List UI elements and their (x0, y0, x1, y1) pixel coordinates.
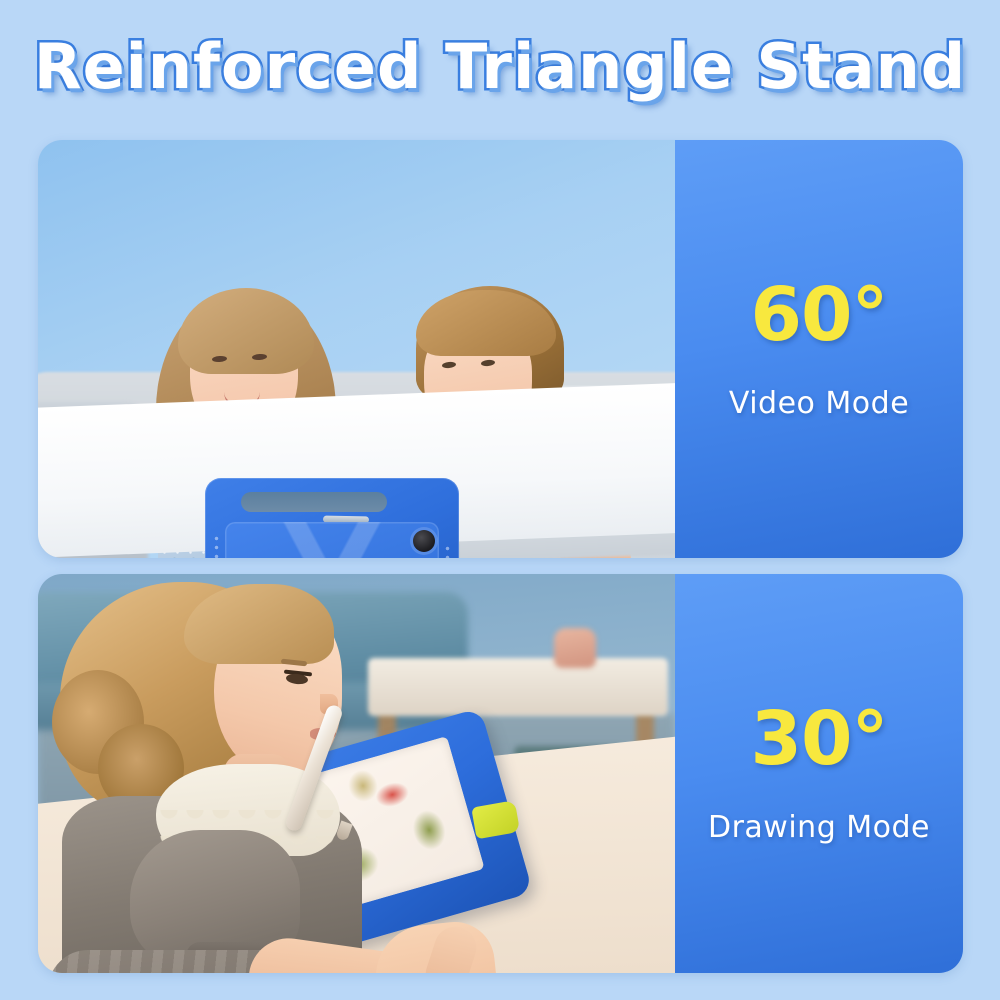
triangle-reinforcement-pattern (225, 522, 439, 558)
angle-value-drawing: 30° (751, 702, 888, 776)
product-feature-page: Reinforced Triangle Stand (0, 0, 1000, 1000)
angle-value-video: 60° (751, 278, 888, 352)
case-handle (241, 492, 387, 512)
info-panel-drawing-mode: 30° Drawing Mode (675, 574, 963, 973)
photo-kids-watching-tablet (38, 140, 675, 558)
vase-decor (554, 628, 596, 668)
feature-card-drawing-mode: 30° Drawing Mode (38, 574, 963, 973)
photo-girl-drawing-on-tablet (38, 574, 675, 973)
mode-label-drawing: Drawing Mode (708, 810, 930, 845)
page-title: Reinforced Triangle Stand (34, 30, 966, 103)
case-vent-dots-right-upper (445, 544, 450, 558)
tablet-case-standing (205, 478, 459, 558)
case-vent-dots-left-upper (214, 534, 219, 558)
mode-label-video: Video Mode (729, 386, 909, 421)
camera-cutout (413, 530, 435, 552)
page-title-wrapper: Reinforced Triangle Stand (0, 30, 1000, 103)
side-table-top (368, 658, 668, 716)
feature-card-video-mode: 60° Video Mode (38, 140, 963, 558)
info-panel-video-mode: 60° Video Mode (675, 140, 963, 558)
